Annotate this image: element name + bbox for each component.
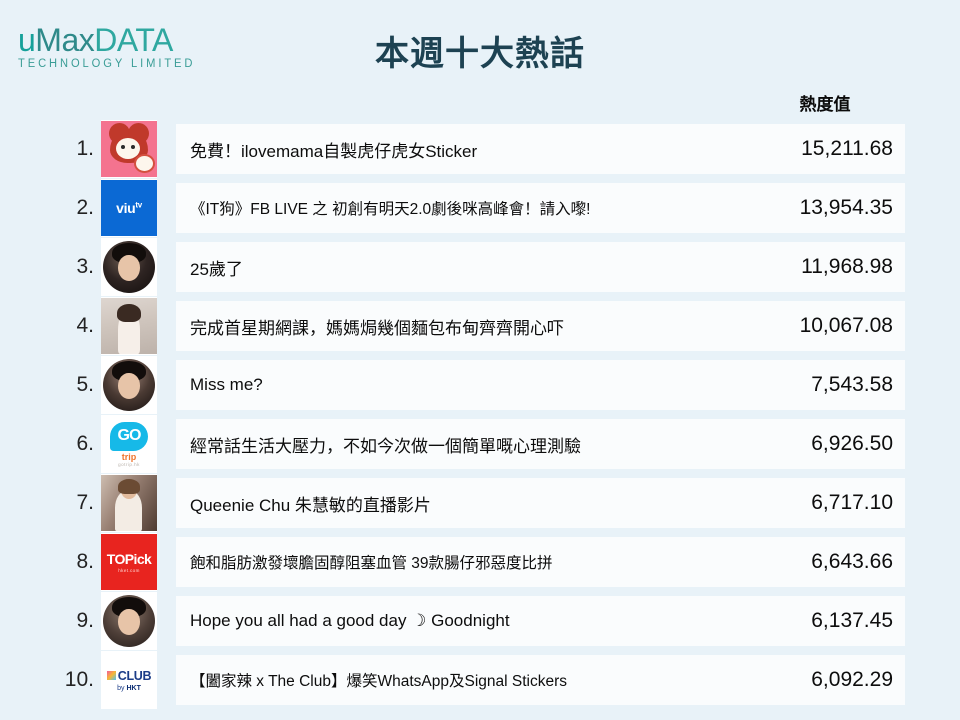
- row-value: 13,954.35: [800, 196, 905, 220]
- row-thumbnail[interactable]: [101, 297, 157, 355]
- rank-number: 5.: [44, 356, 94, 414]
- rank-number: 2.: [44, 179, 94, 237]
- female-photo-thumbnail-icon: [101, 298, 157, 354]
- row-strip[interactable]: Hope you all had a good day ☽ Goodnight …: [176, 596, 905, 646]
- row-title: Hope you all had a good day ☽ Goodnight: [176, 611, 811, 631]
- row-thumbnail[interactable]: [101, 592, 157, 650]
- row-title: 25歲了: [176, 255, 801, 280]
- rank-number: 4.: [44, 297, 94, 355]
- male-portrait-avatar-icon: [101, 239, 157, 295]
- ilovemama-heart-bear-icon: [101, 121, 157, 177]
- rank-number: 8.: [44, 533, 94, 591]
- row-title: 免費！ilovemama自製虎仔虎女Sticker: [176, 137, 801, 162]
- row-thumbnail[interactable]: TOPickhket.com: [101, 533, 157, 591]
- table-row[interactable]: 5. Miss me? 7,543.58: [0, 356, 960, 414]
- slide-header: uMaxDATA TECHNOLOGY LIMITED 本週十大熱話: [0, 0, 960, 90]
- rank-number: 9.: [44, 592, 94, 650]
- gotrip-logo-icon: GOtripgotrip.hk: [101, 416, 157, 472]
- row-strip[interactable]: 25歲了 11,968.98: [176, 242, 905, 292]
- top-ten-list: 1. 免費！ilovemama自製虎仔虎女Sticker 15,211.68 2…: [0, 120, 960, 709]
- heat-value-column-header: 熱度值: [745, 90, 905, 115]
- row-thumbnail[interactable]: GOtripgotrip.hk: [101, 415, 157, 473]
- page-title: 本週十大熱話: [0, 26, 960, 75]
- row-value: 6,926.50: [811, 432, 905, 456]
- row-title: 【闔家辣 x The Club】爆笑WhatsApp及Signal Sticke…: [176, 669, 811, 691]
- row-value: 11,968.98: [801, 255, 905, 279]
- rank-number: 1.: [44, 120, 94, 178]
- table-row[interactable]: 2. viutv 《IT狗》FB LIVE 之 初創有明天2.0劇後咪高峰會！請…: [0, 179, 960, 237]
- row-strip[interactable]: 《IT狗》FB LIVE 之 初創有明天2.0劇後咪高峰會！請入嚟! 13,95…: [176, 183, 905, 233]
- table-row[interactable]: 7. Queenie Chu 朱慧敏的直播影片 6,717.10: [0, 474, 960, 532]
- row-title: 完成首星期網課，媽媽焗幾個麵包布甸齊齊開心吓: [176, 314, 800, 339]
- topick-logo-icon: TOPickhket.com: [101, 534, 157, 590]
- table-row[interactable]: 1. 免費！ilovemama自製虎仔虎女Sticker 15,211.68: [0, 120, 960, 178]
- row-strip[interactable]: 完成首星期網課，媽媽焗幾個麵包布甸齊齊開心吓 10,067.08: [176, 301, 905, 351]
- row-value: 6,092.29: [811, 668, 905, 692]
- row-title: 飽和脂肪激發壞膽固醇阻塞血管 39款腸仔邪惡度比拼: [176, 551, 811, 573]
- row-thumbnail[interactable]: viutv: [101, 179, 157, 237]
- table-row[interactable]: 9. Hope you all had a good day ☽ Goodnig…: [0, 592, 960, 650]
- male-portrait-avatar-icon: [101, 357, 157, 413]
- row-strip[interactable]: Queenie Chu 朱慧敏的直播影片 6,717.10: [176, 478, 905, 528]
- rank-number: 3.: [44, 238, 94, 296]
- row-value: 6,717.10: [811, 491, 905, 515]
- rank-number: 10.: [44, 651, 94, 709]
- female-photo-thumbnail-icon: [101, 475, 157, 531]
- row-strip[interactable]: 【闔家辣 x The Club】爆笑WhatsApp及Signal Sticke…: [176, 655, 905, 705]
- row-title: 經常話生活大壓力，不如今次做一個簡單嘅心理測驗: [176, 432, 811, 457]
- slide-root: { "brand": { "logo_u": "u", "logo_max": …: [0, 0, 960, 720]
- row-title: 《IT狗》FB LIVE 之 初創有明天2.0劇後咪高峰會！請入嚟!: [176, 197, 800, 219]
- row-strip[interactable]: 經常話生活大壓力，不如今次做一個簡單嘅心理測驗 6,926.50: [176, 419, 905, 469]
- viutv-logo-icon: viutv: [101, 180, 157, 236]
- row-value: 6,137.45: [811, 609, 905, 633]
- rank-number: 7.: [44, 474, 94, 532]
- rank-number: 6.: [44, 415, 94, 473]
- row-thumbnail[interactable]: CLUB by HKT: [101, 651, 157, 709]
- row-value: 7,543.58: [811, 373, 905, 397]
- male-portrait-avatar-icon: [101, 593, 157, 649]
- row-thumbnail[interactable]: [101, 238, 157, 296]
- column-header-bar: 熱度值: [0, 90, 960, 118]
- row-strip[interactable]: Miss me? 7,543.58: [176, 360, 905, 410]
- the-club-hkt-logo-icon: CLUB by HKT: [101, 652, 157, 708]
- table-row[interactable]: 3. 25歲了 11,968.98: [0, 238, 960, 296]
- row-thumbnail[interactable]: [101, 120, 157, 178]
- table-row[interactable]: 10. CLUB by HKT 【闔家辣 x The Club】爆笑WhatsA…: [0, 651, 960, 709]
- table-row[interactable]: 8. TOPickhket.com 飽和脂肪激發壞膽固醇阻塞血管 39款腸仔邪惡…: [0, 533, 960, 591]
- row-strip[interactable]: 飽和脂肪激發壞膽固醇阻塞血管 39款腸仔邪惡度比拼 6,643.66: [176, 537, 905, 587]
- row-title: Queenie Chu 朱慧敏的直播影片: [176, 491, 811, 516]
- row-value: 6,643.66: [811, 550, 905, 574]
- table-row[interactable]: 6. GOtripgotrip.hk 經常話生活大壓力，不如今次做一個簡單嘅心理…: [0, 415, 960, 473]
- row-strip[interactable]: 免費！ilovemama自製虎仔虎女Sticker 15,211.68: [176, 124, 905, 174]
- row-title: Miss me?: [176, 375, 811, 395]
- table-row[interactable]: 4. 完成首星期網課，媽媽焗幾個麵包布甸齊齊開心吓 10,067.08: [0, 297, 960, 355]
- row-value: 15,211.68: [801, 137, 905, 161]
- row-thumbnail[interactable]: [101, 356, 157, 414]
- row-thumbnail[interactable]: [101, 474, 157, 532]
- row-value: 10,067.08: [800, 314, 905, 338]
